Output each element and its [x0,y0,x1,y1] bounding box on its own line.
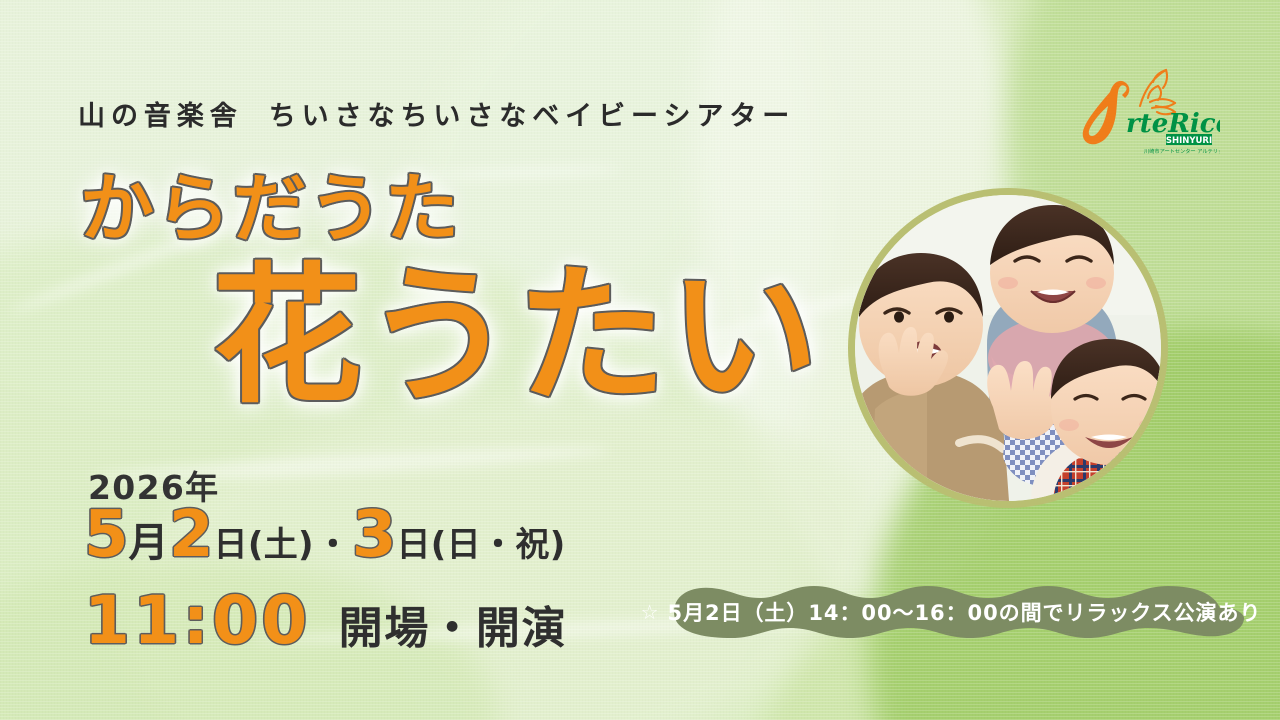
day2-unit: 日 [396,528,430,562]
kicker-series: ちいさなちいさなベイビーシアター [269,101,796,132]
day2-weekday: (日・祝) [431,528,566,562]
star-icon: ☆ [641,600,660,624]
logo-tagline-text: 川崎市アートセンター アルテリッコしんゆり [1144,147,1220,155]
kicker-line: 山の音楽舎ちいさなちいさなベイビーシアター [78,94,795,133]
day2-number: 3 [352,503,397,567]
date-separator: ・ [314,528,352,562]
babies-photo-illustration [855,195,1161,501]
poster-root: 山の音楽舎ちいさなちいさなベイビーシアター rteRicca SHINYURI … [0,0,1280,720]
banner-text-row: ☆ 5月2日（土）14：00〜16：00の間でリラックス公演あり [648,586,1254,638]
babies-photo-frame [848,188,1168,508]
kicker-company: 山の音楽舎 [78,101,243,132]
time-line: 11:00 開場・開演 [84,588,567,654]
day1-unit: 日 [213,528,247,562]
relax-performance-banner: ☆ 5月2日（土）14：00〜16：00の間でリラックス公演あり [648,586,1254,638]
month-unit: 月 [129,523,169,563]
banner-text: 5月2日（土）14：00〜16：00の間でリラックス公演あり [668,597,1262,627]
start-time: 11:00 [84,588,311,654]
day1-weekday: (土) [248,528,314,562]
logo-artwork: rteRicca SHINYURI 川崎市アートセンター アルテリッコしんゆり [1070,62,1220,158]
date-line: 5 月 2 日 (土) ・ 3 日 (日・祝) [84,503,566,567]
babies-photo [855,195,1161,501]
time-label: 開場・開演 [339,607,568,651]
main-title-hanautai: 花うたい [212,262,821,412]
month-number: 5 [84,503,129,567]
logo-sub-text: SHINYURI [1166,136,1212,146]
subtitle-karadauta: からだうた [80,172,461,246]
day1-number: 2 [169,503,214,567]
arte-ricca-logo[interactable]: rteRicca SHINYURI 川崎市アートセンター アルテリッコしんゆり [1070,62,1220,158]
wheat-sprout-icon [1140,70,1175,114]
